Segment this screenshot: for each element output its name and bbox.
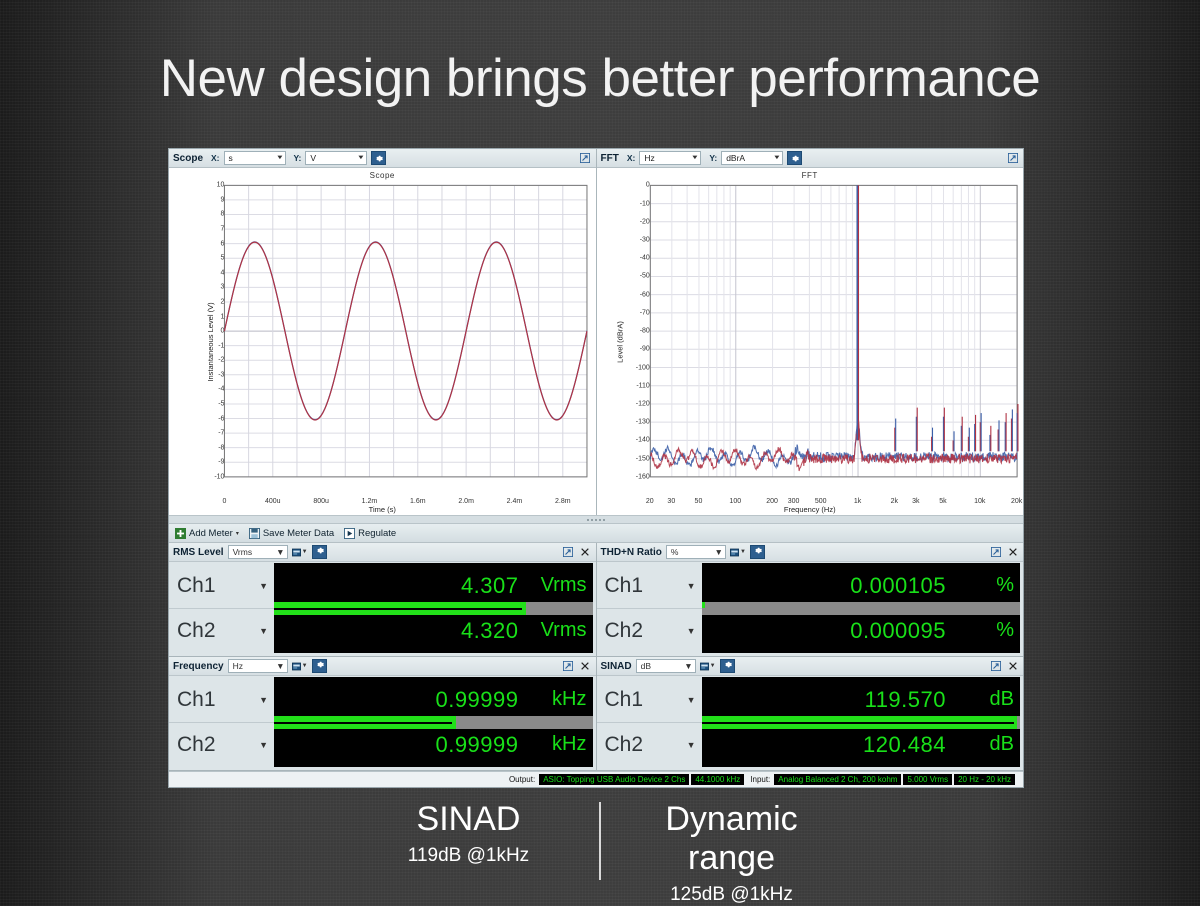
meter-unit-value-thd-n-ratio: % [671,547,679,557]
meter-popout-button-sinad[interactable] [989,660,1002,673]
save-meter-data-label: Save Meter Data [263,528,334,539]
status-bar: Output: ASIO: Topping USB Audio Device 2… [169,771,1023,787]
meter-bar [274,722,593,729]
meter-header-rms-level: RMS LevelVrms▼▼ [169,543,596,562]
meter-popout-button-frequency[interactable] [562,660,575,673]
meter-channel-row: Ch2▼0.000095% [597,608,1021,653]
meter-unit-value-sinad: dB [641,661,651,671]
meter-channel-row: Ch1▼0.99999kHz [169,677,593,722]
caption-sinad: SINAD 119dB @1kHz [356,800,581,867]
channel-selector-rms-level-ch1[interactable]: Ch1▼ [169,563,274,608]
channel-selector-sinad-ch1[interactable]: Ch1▼ [597,677,702,722]
meter-value: 0.99999 [435,687,518,713]
meter-bar [702,608,1021,615]
channel-label: Ch2 [177,733,216,757]
scope-settings-button[interactable] [371,151,386,165]
meter-display-mode-button-frequency[interactable]: ▼ [292,659,308,673]
fft-y-unit-value: dBrA [726,153,745,163]
fft-panel: FFT X: Hz ▼ Y: dBrA ▼ [597,149,1024,515]
channel-label: Ch2 [605,619,644,643]
meter-header-sinad: SINADdB▼▼ [597,657,1024,676]
meter-readout-sinad-ch1: 119.570dB [702,677,1021,722]
fft-y-axis-label: Y: [709,153,717,163]
meter-settings-button-thd-n-ratio[interactable] [750,545,765,559]
output-rate-field[interactable]: 44.1000 kHz [691,774,744,785]
meter-unit: Vrms [529,574,587,597]
panel-splitter[interactable] [169,515,1023,524]
meter-unit: kHz [529,688,587,711]
meter-unit-select-rms-level[interactable]: Vrms▼ [228,545,288,559]
channel-label: Ch1 [177,574,216,598]
meter-unit: dB [956,688,1014,711]
meter-popout-button-thd-n-ratio[interactable] [989,546,1002,559]
meter-unit-select-frequency[interactable]: Hz▼ [228,659,288,673]
chevron-down-icon: ▼ [302,663,308,669]
meter-unit-select-sinad[interactable]: dB▼ [636,659,696,673]
chevron-down-icon: ▼ [773,155,781,161]
meters-container: RMS LevelVrms▼▼Ch1▼4.307VrmsCh2▼4.320Vrm… [169,543,1023,771]
meter-readout-rms-level-ch1: 4.307Vrms [274,563,593,608]
gear-icon [374,154,383,163]
fft-x-unit-select[interactable]: Hz ▼ [639,151,701,165]
meter-body-sinad: Ch1▼119.570dBCh2▼120.484dB [597,676,1024,770]
meter-close-button-thd-n-ratio[interactable] [1006,546,1019,559]
meter-value: 0.99999 [435,732,518,758]
meter-close-button-frequency[interactable] [579,660,592,673]
channel-selector-thd-n-ratio-ch1[interactable]: Ch1▼ [597,563,702,608]
meter-close-button-rms-level[interactable] [579,546,592,559]
meter-bar-needle [702,722,1014,724]
channel-selector-frequency-ch1[interactable]: Ch1▼ [169,677,274,722]
meter-readout-thd-n-ratio-ch1: 0.000105% [702,563,1021,608]
chevron-down-icon: ▼ [687,695,696,705]
scope-panel: Scope X: s ▼ Y: V ▼ [169,149,597,515]
input-level-field[interactable]: 5.000 Vrms [903,774,952,785]
meter-settings-button-sinad[interactable] [720,659,735,673]
chevron-down-icon: ▼ [275,155,283,161]
meter-close-button-sinad[interactable] [1006,660,1019,673]
chevron-down-icon: ▼ [302,549,308,555]
channel-label: Ch1 [605,574,644,598]
meter-title-rms-level: RMS Level [173,547,224,558]
chevron-down-icon: ▼ [276,661,284,671]
meter-unit: % [956,574,1014,597]
meter-value: 119.570 [865,687,946,713]
fft-popout-button[interactable] [1006,152,1019,165]
meter-readout-sinad-ch2: 120.484dB [702,722,1021,767]
output-label: Output: [505,775,539,784]
scope-popout-button[interactable] [579,152,592,165]
fft-y-unit-select[interactable]: dBrA ▼ [721,151,783,165]
scope-y-unit-value: V [310,153,316,163]
gear-icon [790,154,799,163]
chevron-down-icon: ▼ [687,581,696,591]
scope-plot[interactable]: Scope Instantaneous Level (V) Time (s) 1… [169,168,596,515]
input-label: Input: [746,775,774,784]
chevron-down-icon: ▼ [710,663,716,669]
meter-body-frequency: Ch1▼0.99999kHzCh2▼0.99999kHz [169,676,596,770]
meter-title-thd-n-ratio: THD+N Ratio [601,547,662,558]
chevron-down-icon: ▼ [687,740,696,750]
meter-unit-value-rms-level: Vrms [233,547,253,557]
scope-y-axis-label: Y: [294,153,302,163]
meter-readout-frequency-ch2: 0.99999kHz [274,722,593,767]
meter-readout-thd-n-ratio-ch2: 0.000095% [702,608,1021,653]
channel-selector-rms-level-ch2[interactable]: Ch2▼ [169,608,274,653]
meter-unit: dB [956,733,1014,756]
channel-label: Ch2 [177,619,216,643]
meter-body-rms-level: Ch1▼4.307VrmsCh2▼4.320Vrms [169,562,596,656]
channel-selector-frequency-ch2[interactable]: Ch2▼ [169,722,274,767]
meter-readout-frequency-ch1: 0.99999kHz [274,677,593,722]
scope-panel-title: Scope [173,153,203,164]
chevron-down-icon: ▼ [259,581,268,591]
fft-panel-header: FFT X: Hz ▼ Y: dBrA ▼ [597,149,1024,168]
fft-x-unit-value: Hz [644,153,654,163]
meter-value: 4.320 [461,618,519,644]
scope-trace-svg [169,168,596,515]
chevron-down-icon: ▼ [684,661,692,671]
caption-divider [599,802,601,880]
meter-channel-row: Ch2▼0.99999kHz [169,722,593,767]
page-title: New design brings better performance [0,48,1200,109]
meter-panel-thd-n-ratio: THD+N Ratio%▼▼Ch1▼0.000105%Ch2▼0.000095% [597,543,1024,657]
meter-value: 0.000105 [850,573,946,599]
caption-dynamic-range-sub: 125dB @1kHz [619,884,844,906]
meter-body-thd-n-ratio: Ch1▼0.000105%Ch2▼0.000095% [597,562,1024,656]
output-device-field[interactable]: ASIO: Topping USB Audio Device 2 Chs [539,774,689,785]
chevron-down-icon: ▼ [259,695,268,705]
audio-analyzer-window: Scope X: s ▼ Y: V ▼ [168,148,1024,788]
input-band-field[interactable]: 20 Hz - 20 kHz [954,774,1015,785]
meter-channel-row: Ch1▼0.000105% [597,563,1021,608]
chevron-down-icon: ▼ [357,155,365,161]
meter-value: 120.484 [863,732,946,758]
play-icon [344,528,355,539]
meter-bar-needle [274,722,452,724]
gear-icon [315,546,324,558]
fft-panel-title: FFT [601,153,619,164]
meter-readout-rms-level-ch2: 4.320Vrms [274,608,593,653]
channel-label: Ch1 [605,688,644,712]
meter-unit: % [956,619,1014,642]
meter-header-frequency: FrequencyHz▼▼ [169,657,596,676]
caption-sinad-heading: SINAD [356,800,581,839]
chevron-down-icon[interactable]: ▾ [236,530,239,537]
meter-unit: kHz [529,733,587,756]
channel-label: Ch1 [177,688,216,712]
meter-settings-button-rms-level[interactable] [312,545,327,559]
caption-row: SINAD 119dB @1kHz Dynamic range 125dB @1… [0,800,1200,906]
caption-dynamic-range-heading: Dynamic range [619,800,844,878]
meter-display-mode-button-sinad[interactable]: ▼ [700,659,716,673]
channel-label: Ch2 [605,733,644,757]
channel-selector-thd-n-ratio-ch2[interactable]: Ch2▼ [597,608,702,653]
meter-title-sinad: SINAD [601,661,632,672]
scope-x-axis-label: X: [211,153,220,163]
plus-icon [175,528,186,539]
regulate-button[interactable]: Regulate [344,528,396,539]
meter-channel-row: Ch2▼120.484dB [597,722,1021,767]
meter-unit-value-frequency: Hz [233,661,243,671]
fft-trace-svg [597,168,1024,515]
meter-bar [274,608,593,615]
chevron-down-icon: ▼ [687,626,696,636]
add-meter-button[interactable]: Add Meter ▾ [175,528,239,539]
meter-row: RMS LevelVrms▼▼Ch1▼4.307VrmsCh2▼4.320Vrm… [169,543,1023,657]
meter-display-mode-button-thd-n-ratio[interactable]: ▼ [730,545,746,559]
meter-toolbar: Add Meter ▾ Save Meter Data Regulate [169,524,1023,543]
fft-x-axis-label: X: [627,153,636,163]
gear-icon [723,660,732,672]
scope-x-unit-select[interactable]: s ▼ [224,151,286,165]
meter-bar [702,722,1021,729]
meter-channel-row: Ch1▼4.307Vrms [169,563,593,608]
meter-value: 4.307 [461,573,519,599]
gear-icon [315,660,324,672]
save-meter-data-button[interactable]: Save Meter Data [249,528,334,539]
input-device-field[interactable]: Analog Balanced 2 Ch, 200 kohm [774,774,901,785]
meter-settings-button-frequency[interactable] [312,659,327,673]
meter-unit-select-thd-n-ratio[interactable]: %▼ [666,545,726,559]
meter-channel-row: Ch2▼4.320Vrms [169,608,593,653]
meter-panel-rms-level: RMS LevelVrms▼▼Ch1▼4.307VrmsCh2▼4.320Vrm… [169,543,597,657]
regulate-label: Regulate [358,528,396,539]
save-icon [249,528,260,539]
chevron-down-icon: ▼ [259,626,268,636]
fft-plot[interactable]: FFT Level (dBrA) Frequency (Hz) 0-10-20-… [597,168,1024,515]
meter-panel-sinad: SINADdB▼▼Ch1▼119.570dBCh2▼120.484dB [597,657,1024,771]
chevron-down-icon: ▼ [259,740,268,750]
meter-header-thd-n-ratio: THD+N Ratio%▼▼ [597,543,1024,562]
meter-value: 0.000095 [850,618,946,644]
chevron-down-icon: ▼ [714,547,722,557]
fft-settings-button[interactable] [787,151,802,165]
scope-x-unit-value: s [229,153,233,163]
meter-title-frequency: Frequency [173,661,224,672]
scope-y-unit-select[interactable]: V ▼ [305,151,367,165]
caption-dynamic-range: Dynamic range 125dB @1kHz [619,800,844,906]
add-meter-label: Add Meter [189,528,233,539]
graph-area: Scope X: s ▼ Y: V ▼ [169,149,1023,515]
chevron-down-icon: ▼ [740,549,746,555]
meter-row: FrequencyHz▼▼Ch1▼0.99999kHzCh2▼0.99999kH… [169,657,1023,771]
meter-unit: Vrms [529,619,587,642]
meter-popout-button-rms-level[interactable] [562,546,575,559]
meter-panel-frequency: FrequencyHz▼▼Ch1▼0.99999kHzCh2▼0.99999kH… [169,657,597,771]
caption-sinad-sub: 119dB @1kHz [356,845,581,867]
scope-panel-header: Scope X: s ▼ Y: V ▼ [169,149,596,168]
meter-channel-row: Ch1▼119.570dB [597,677,1021,722]
meter-bar-needle [274,608,522,610]
channel-selector-sinad-ch2[interactable]: Ch2▼ [597,722,702,767]
meter-display-mode-button-rms-level[interactable]: ▼ [292,545,308,559]
chevron-down-icon: ▼ [276,547,284,557]
gear-icon [753,546,762,558]
chevron-down-icon: ▼ [691,155,699,161]
